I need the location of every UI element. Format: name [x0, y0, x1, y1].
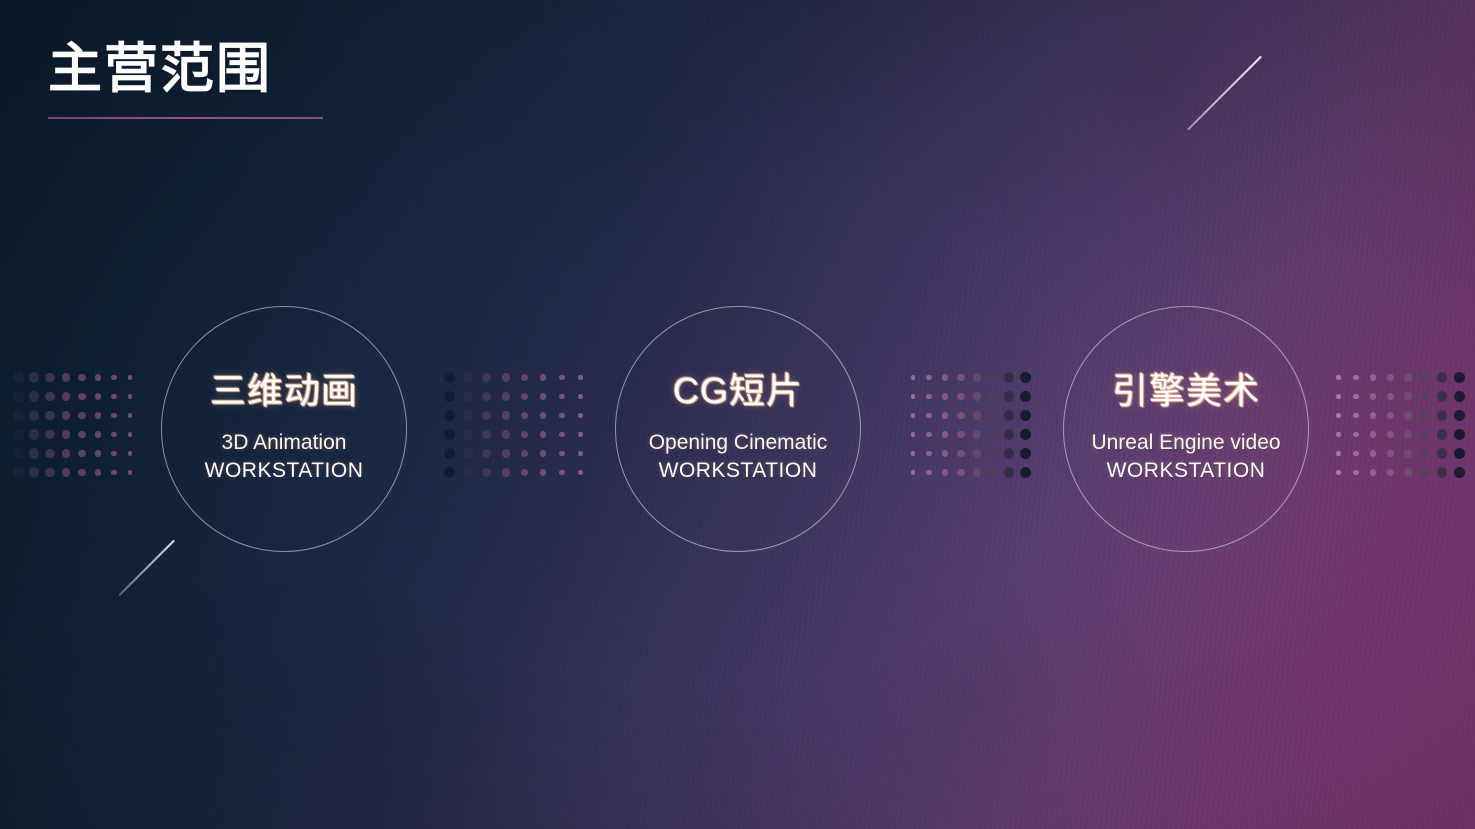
grid-dot: [95, 469, 101, 475]
grid-dot: [1353, 432, 1358, 437]
service-circle-opening-cinematic[interactable]: CG短片 Opening Cinematic WORKSTATION: [615, 306, 861, 552]
grid-dot: [578, 451, 583, 456]
grid-dot: [1004, 391, 1014, 401]
grid-dot: [973, 449, 981, 457]
grid-dot: [1004, 429, 1014, 439]
grid-dot: [540, 412, 546, 418]
grid-dot: [578, 375, 583, 380]
grid-dot: [482, 449, 491, 458]
grid-dot: [1336, 413, 1341, 418]
grid-dot: [1020, 448, 1031, 459]
grid-dot: [463, 410, 473, 420]
grid-dot: [62, 373, 70, 381]
grid-dot: [911, 432, 916, 437]
grid-dot: [540, 374, 546, 380]
service-heading: CG短片: [673, 373, 803, 409]
grid-dot: [1353, 470, 1358, 475]
grid-dot: [1020, 391, 1031, 402]
grid-dot: [1420, 392, 1429, 401]
grid-dot: [482, 392, 491, 401]
grid-dot: [1454, 448, 1465, 459]
grid-dot: [62, 468, 70, 476]
grid-dot: [45, 392, 54, 401]
grid-dot: [942, 393, 948, 399]
grid-dot: [13, 391, 24, 402]
grid-dot: [540, 450, 546, 456]
dot-grid-right: [1330, 368, 1468, 482]
grid-dot: [111, 451, 116, 456]
dot-grid-middle-two: [905, 368, 1033, 482]
grid-dot: [942, 431, 948, 437]
grid-dot: [540, 431, 546, 437]
grid-dot: [911, 413, 916, 418]
grid-dot: [926, 451, 931, 456]
service-circle-unreal-engine[interactable]: 引擎美术 Unreal Engine video WORKSTATION: [1063, 306, 1309, 552]
title-block: 主营范围: [48, 40, 323, 119]
slide-canvas: 主营范围 三维动画 3D Animation WORKSTATION CG短片 …: [0, 0, 1475, 829]
grid-dot: [1404, 392, 1412, 400]
grid-dot: [1020, 429, 1031, 440]
grid-dot: [559, 432, 564, 437]
grid-dot: [1387, 393, 1394, 400]
grid-dot: [1370, 431, 1376, 437]
grid-dot: [957, 412, 964, 419]
grid-dot: [1387, 469, 1394, 476]
grid-dot: [1020, 410, 1031, 421]
grid-dot: [78, 374, 85, 381]
grid-dot: [62, 411, 70, 419]
dot-grid-middle-one: [440, 368, 590, 482]
grid-dot: [1353, 375, 1358, 380]
grid-dot: [973, 411, 981, 419]
grid-dot: [128, 432, 133, 437]
grid-dot: [1437, 429, 1447, 439]
grid-dot: [1020, 467, 1031, 478]
title-underline: [48, 117, 323, 119]
grid-dot: [13, 429, 24, 440]
grid-dot: [502, 411, 510, 419]
grid-dot: [111, 413, 116, 418]
grid-dot: [62, 392, 70, 400]
grid-dot: [29, 410, 39, 420]
grid-dot: [1454, 410, 1465, 421]
grid-dot: [957, 393, 964, 400]
grid-dot: [521, 374, 528, 381]
grid-dot: [1020, 372, 1031, 383]
grid-dot: [578, 432, 583, 437]
grid-dot: [942, 374, 948, 380]
grid-dot: [988, 392, 997, 401]
grid-dot: [111, 470, 116, 475]
grid-dot: [444, 372, 455, 383]
grid-dot: [957, 431, 964, 438]
grid-dot: [1336, 451, 1341, 456]
grid-dot: [78, 412, 85, 419]
grid-dot: [521, 412, 528, 419]
grid-dot: [482, 430, 491, 439]
grid-dot: [13, 448, 24, 459]
grid-dot: [502, 373, 510, 381]
grid-dot: [1004, 448, 1014, 458]
grid-dot: [1404, 468, 1412, 476]
grid-dot: [957, 374, 964, 381]
grid-dot: [444, 410, 455, 421]
grid-dot: [988, 373, 997, 382]
grid-dot: [1387, 374, 1394, 381]
grid-dot: [1454, 429, 1465, 440]
grid-dot: [1387, 412, 1394, 419]
grid-dot: [444, 448, 455, 459]
service-subtitle-en: Unreal Engine video: [1091, 429, 1280, 457]
grid-dot: [973, 373, 981, 381]
grid-dot: [578, 394, 583, 399]
grid-dot: [111, 432, 116, 437]
grid-dot: [1404, 411, 1412, 419]
grid-dot: [1437, 448, 1447, 458]
grid-dot: [957, 469, 964, 476]
grid-dot: [444, 429, 455, 440]
grid-dot: [559, 375, 564, 380]
service-subtitle-tag: WORKSTATION: [205, 457, 364, 485]
service-heading: 引擎美术: [1112, 373, 1260, 409]
grid-dot: [911, 394, 916, 399]
grid-dot: [444, 391, 455, 402]
grid-dot: [482, 468, 491, 477]
grid-dot: [502, 392, 510, 400]
dot-grid-left: [10, 368, 138, 482]
grid-dot: [1370, 393, 1376, 399]
grid-dot: [1420, 373, 1429, 382]
grid-dot: [1004, 410, 1014, 420]
grid-dot: [29, 467, 39, 477]
grid-dot: [62, 449, 70, 457]
grid-dot: [1420, 411, 1429, 420]
service-circle-3d-animation[interactable]: 三维动画 3D Animation WORKSTATION: [161, 306, 407, 552]
grid-dot: [95, 431, 101, 437]
grid-dot: [988, 449, 997, 458]
grid-dot: [95, 393, 101, 399]
grid-dot: [521, 431, 528, 438]
grid-dot: [1437, 391, 1447, 401]
grid-dot: [45, 449, 54, 458]
grid-dot: [128, 470, 133, 475]
grid-dot: [559, 413, 564, 418]
grid-dot: [13, 372, 24, 383]
grid-dot: [62, 430, 70, 438]
grid-dot: [559, 470, 564, 475]
grid-dot: [926, 375, 931, 380]
grid-dot: [95, 412, 101, 418]
grid-dot: [1404, 449, 1412, 457]
grid-dot: [502, 468, 510, 476]
grid-dot: [29, 391, 39, 401]
grid-dot: [128, 451, 133, 456]
grid-dot: [540, 469, 546, 475]
grid-dot: [482, 373, 491, 382]
grid-dot: [1336, 470, 1341, 475]
grid-dot: [911, 375, 916, 380]
service-subtitle-en: 3D Animation: [222, 429, 347, 457]
grid-dot: [45, 430, 54, 439]
grid-dot: [128, 375, 133, 380]
grid-dot: [13, 467, 24, 478]
grid-dot: [463, 467, 473, 477]
grid-dot: [578, 413, 583, 418]
grid-dot: [95, 374, 101, 380]
grid-dot: [128, 413, 133, 418]
grid-dot: [482, 411, 491, 420]
grid-dot: [78, 431, 85, 438]
grid-dot: [1370, 412, 1376, 418]
grid-dot: [13, 410, 24, 421]
grid-dot: [502, 430, 510, 438]
grid-dot: [111, 375, 116, 380]
grid-dot: [1437, 467, 1447, 477]
grid-dot: [973, 468, 981, 476]
grid-dot: [559, 451, 564, 456]
grid-dot: [942, 450, 948, 456]
grid-dot: [911, 451, 916, 456]
grid-dot: [444, 467, 455, 478]
grid-dot: [502, 449, 510, 457]
grid-dot: [1353, 451, 1358, 456]
grid-dot: [942, 412, 948, 418]
grid-dot: [29, 448, 39, 458]
grid-dot: [942, 469, 948, 475]
grid-dot: [1353, 413, 1358, 418]
grid-dot: [78, 469, 85, 476]
page-title: 主营范围: [48, 40, 323, 99]
grid-dot: [78, 393, 85, 400]
grid-dot: [1454, 391, 1465, 402]
grid-dot: [926, 432, 931, 437]
service-subtitle-tag: WORKSTATION: [1107, 457, 1266, 485]
grid-dot: [1353, 394, 1358, 399]
grid-dot: [1004, 467, 1014, 477]
grid-dot: [111, 394, 116, 399]
grid-dot: [911, 470, 916, 475]
grid-dot: [1404, 430, 1412, 438]
grid-dot: [1336, 432, 1341, 437]
grid-dot: [926, 413, 931, 418]
grid-dot: [926, 470, 931, 475]
grid-dot: [128, 394, 133, 399]
grid-dot: [463, 372, 473, 382]
grid-dot: [1454, 467, 1465, 478]
grid-dot: [45, 373, 54, 382]
grid-dot: [1437, 372, 1447, 382]
grid-dot: [578, 470, 583, 475]
grid-dot: [1370, 374, 1376, 380]
grid-dot: [1420, 468, 1429, 477]
grid-dot: [1437, 410, 1447, 420]
grid-dot: [95, 450, 101, 456]
grid-dot: [1387, 450, 1394, 457]
grid-dot: [463, 391, 473, 401]
grid-dot: [521, 469, 528, 476]
grid-dot: [926, 394, 931, 399]
grid-dot: [1420, 430, 1429, 439]
grid-dot: [1387, 431, 1394, 438]
grid-dot: [29, 372, 39, 382]
grid-dot: [78, 450, 85, 457]
service-subtitle-tag: WORKSTATION: [659, 457, 818, 485]
grid-dot: [1404, 373, 1412, 381]
grid-dot: [1454, 372, 1465, 383]
grid-dot: [957, 450, 964, 457]
service-heading: 三维动画: [210, 373, 358, 409]
grid-dot: [540, 393, 546, 399]
grid-dot: [973, 392, 981, 400]
grid-dot: [988, 430, 997, 439]
grid-dot: [559, 394, 564, 399]
grid-dot: [973, 430, 981, 438]
grid-dot: [1336, 375, 1341, 380]
grid-dot: [1004, 372, 1014, 382]
grid-dot: [45, 411, 54, 420]
grid-dot: [45, 468, 54, 477]
grid-dot: [463, 429, 473, 439]
grid-dot: [1336, 394, 1341, 399]
grid-dot: [521, 393, 528, 400]
grid-dot: [521, 450, 528, 457]
grid-dot: [988, 468, 997, 477]
grid-dot: [463, 448, 473, 458]
grid-dot: [1370, 469, 1376, 475]
grid-dot: [1420, 449, 1429, 458]
grid-dot: [29, 429, 39, 439]
grid-dot: [988, 411, 997, 420]
service-subtitle-en: Opening Cinematic: [649, 429, 828, 457]
grid-dot: [1370, 450, 1376, 456]
